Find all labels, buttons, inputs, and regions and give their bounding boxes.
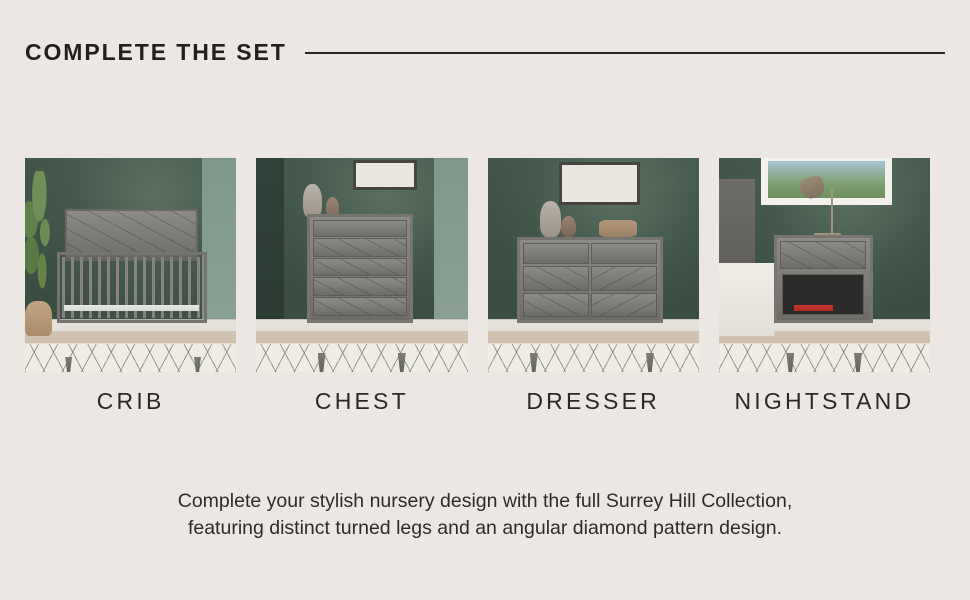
drawer-chevron-pattern — [314, 298, 406, 315]
bed — [719, 263, 774, 336]
description-line-1: Complete your stylish nursery design wit… — [85, 488, 885, 515]
drawer-chevron-pattern — [781, 242, 865, 268]
product-label-chest: CHEST — [256, 388, 467, 415]
nightstand-drawer-1[interactable] — [780, 241, 866, 269]
wall-shadow-left — [256, 158, 283, 325]
rug-diamond-pattern — [256, 344, 467, 372]
dresser-drawer-6[interactable] — [591, 293, 657, 318]
crib-frame — [57, 252, 207, 323]
wall-adjacent-light — [202, 158, 236, 325]
nightstand-open-shelf — [782, 274, 864, 315]
wall-art-frame — [559, 162, 639, 205]
product-grid — [25, 158, 930, 372]
vase-large-decor-icon — [540, 201, 561, 237]
drawer-chevron-pattern — [314, 239, 406, 256]
description-line-2: featuring distinct turned legs and an an… — [85, 515, 885, 542]
dresser-body — [517, 237, 663, 323]
dresser-drawer-2[interactable] — [591, 243, 657, 264]
drawer-chevron-pattern — [524, 294, 588, 317]
drawer-chevron-pattern — [314, 278, 406, 295]
chest-drawer-5[interactable] — [313, 297, 407, 316]
toy-decor-icon — [599, 220, 637, 237]
rug-diamond-pattern — [25, 344, 236, 372]
basket-decor-icon — [25, 301, 52, 335]
wall-adjacent-light — [434, 158, 468, 325]
crib-photo[interactable] — [25, 158, 236, 372]
product-card-nightstand[interactable] — [719, 158, 930, 372]
book-decor-icon — [794, 305, 832, 311]
product-card-crib[interactable] — [25, 158, 236, 372]
nightstand-photo[interactable] — [719, 158, 930, 372]
chest-body — [307, 214, 413, 323]
chest-photo[interactable] — [256, 158, 467, 372]
rug-diamond-pattern — [488, 344, 699, 372]
rug-diamond-pattern — [719, 344, 930, 372]
page-title: COMPLETE THE SET — [25, 39, 287, 66]
product-label-dresser: DRESSER — [488, 388, 699, 415]
dresser-drawer-4[interactable] — [591, 266, 657, 291]
product-label-nightstand: NIGHTSTAND — [719, 388, 930, 415]
chest-drawer-3[interactable] — [313, 258, 407, 277]
crib-mattress — [64, 305, 199, 311]
window — [761, 158, 892, 205]
dresser-drawer-1[interactable] — [523, 243, 589, 264]
dresser-drawer-3[interactable] — [523, 266, 589, 291]
wall-art-frame — [353, 160, 416, 190]
header-divider-rule — [305, 52, 945, 54]
drawer-chevron-pattern — [524, 267, 588, 290]
product-label-row: CRIB CHEST DRESSER NIGHTSTAND — [25, 388, 930, 415]
nightstand-body — [774, 235, 873, 323]
drawer-chevron-pattern — [592, 294, 656, 317]
drawer-chevron-pattern — [314, 259, 406, 276]
chest-drawer-4[interactable] — [313, 277, 407, 296]
section-header: COMPLETE THE SET — [25, 36, 945, 68]
chest-drawer-1[interactable] — [313, 220, 407, 238]
chest-drawer-2[interactable] — [313, 238, 407, 257]
dresser-photo[interactable] — [488, 158, 699, 372]
collection-description: Complete your stylish nursery design wit… — [85, 488, 885, 542]
drawer-chevron-pattern — [592, 267, 656, 290]
product-card-chest[interactable] — [256, 158, 467, 372]
product-label-crib: CRIB — [25, 388, 236, 415]
product-card-dresser[interactable] — [488, 158, 699, 372]
vase-small-decor-icon — [561, 216, 576, 237]
dresser-drawer-5[interactable] — [523, 293, 589, 318]
lamp-post — [831, 188, 833, 235]
